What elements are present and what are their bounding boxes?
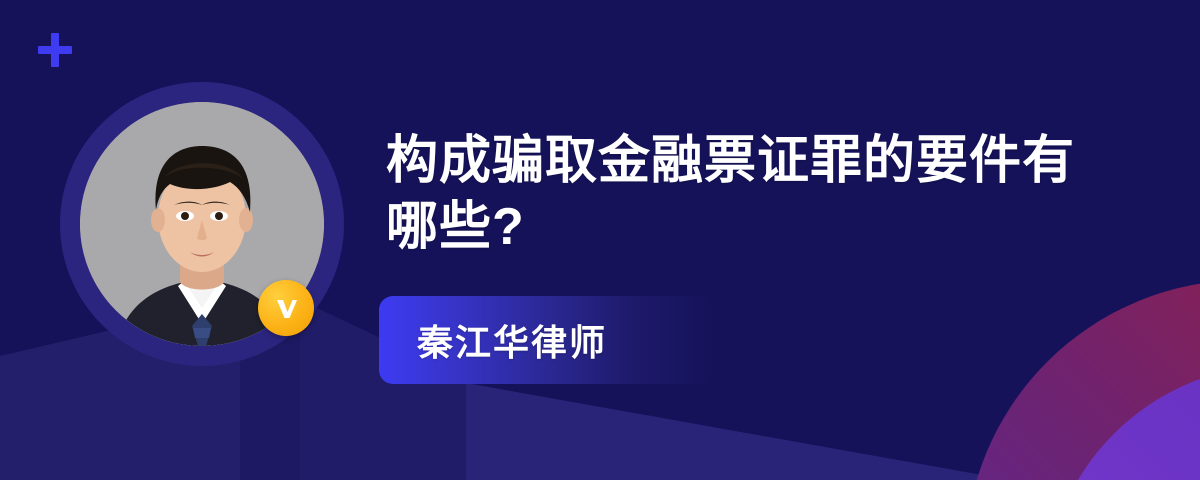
lawyer-name-label: 秦江华律师 xyxy=(417,314,607,366)
plus-icon xyxy=(38,33,72,67)
lawyer-question-banner: 构成骗取金融票证罪的要件有哪些? 秦江华律师 xyxy=(0,0,1200,480)
verified-check-icon xyxy=(258,280,314,336)
avatar[interactable] xyxy=(60,82,344,366)
lawyer-name-button[interactable]: 秦江华律师 xyxy=(379,296,719,384)
page-title: 构成骗取金融票证罪的要件有哪些? xyxy=(386,128,1086,260)
corner-arc-decoration xyxy=(965,280,1200,480)
